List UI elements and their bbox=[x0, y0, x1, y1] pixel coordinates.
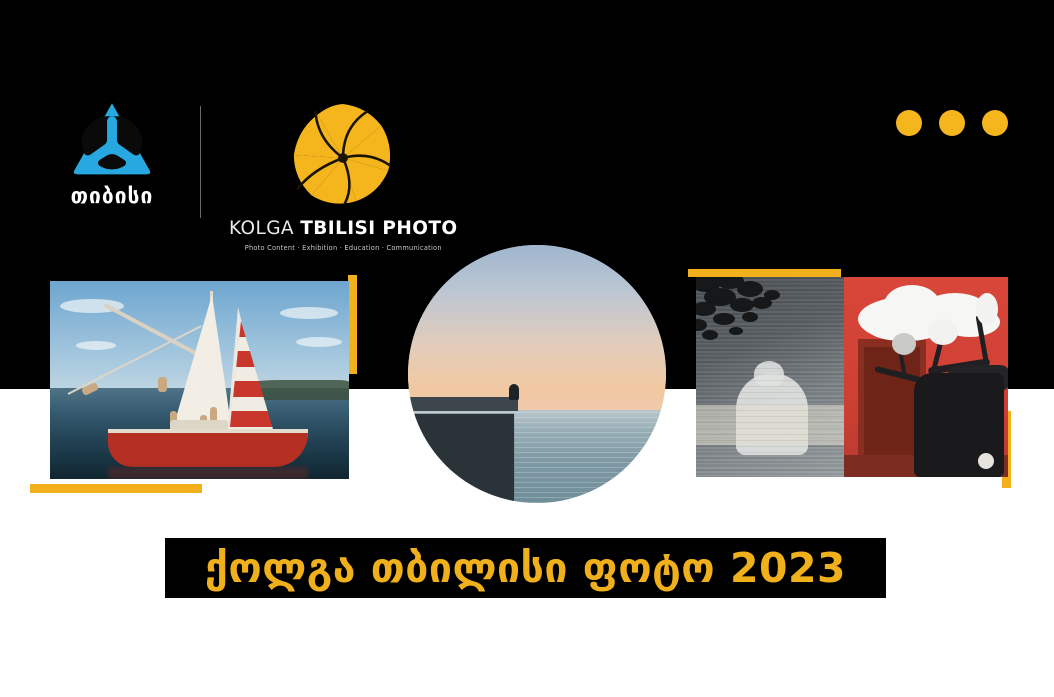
logo-row: თიბისი bbox=[52, 100, 458, 252]
poster-canvas: თიბისი bbox=[0, 0, 1054, 697]
cloud-shape bbox=[280, 307, 338, 319]
scooter-mirror bbox=[928, 319, 958, 345]
accent-bar-left-vertical bbox=[348, 275, 357, 374]
sailboat-hull bbox=[108, 433, 308, 467]
dot-icon-2 bbox=[939, 110, 965, 136]
accent-bar-left-horizontal bbox=[30, 484, 202, 493]
sailboat-photo bbox=[50, 281, 349, 479]
misty-figure-photo bbox=[696, 277, 844, 477]
misty-scanlines bbox=[696, 277, 844, 477]
cloud-shape bbox=[76, 341, 116, 350]
kolga-word-bold: TBILISI PHOTO bbox=[300, 218, 457, 239]
title-banner: ქოლგა თბილისი ფოტო 2023 bbox=[165, 538, 886, 598]
dot-icon-3 bbox=[982, 110, 1008, 136]
kolga-logo[interactable]: KOLGA TBILISI PHOTO Photo Content · Exhi… bbox=[229, 100, 458, 252]
circle-photo-pier-top bbox=[408, 397, 518, 411]
sailboat-reflection bbox=[108, 467, 308, 479]
decorative-dots bbox=[896, 110, 1008, 136]
kolga-word-light: KOLGA bbox=[229, 218, 294, 239]
tbc-logo[interactable]: თიბისი bbox=[52, 100, 172, 207]
right-photo-pair bbox=[696, 277, 1008, 477]
tbc-wordmark: თიბისი bbox=[71, 186, 154, 207]
accent-bar-right-horizontal bbox=[688, 269, 841, 277]
scooter-headlamp bbox=[978, 453, 994, 469]
tbc-triangle-logo-icon bbox=[70, 100, 154, 176]
dot-icon-1 bbox=[896, 110, 922, 136]
scooter-mirror bbox=[892, 333, 916, 355]
cloud-shape bbox=[296, 337, 342, 347]
logo-divider bbox=[200, 106, 201, 218]
scooter-photo bbox=[844, 277, 1008, 477]
circle-pier-photo bbox=[408, 245, 666, 503]
scooter-photo-doorway-inner bbox=[864, 347, 920, 459]
circle-photo-person bbox=[509, 384, 519, 400]
kolga-umbrella-logo-icon bbox=[284, 102, 402, 214]
page-title: ქოლგა თბილისი ფოტო 2023 bbox=[205, 548, 846, 589]
kolga-wordmark: KOLGA TBILISI PHOTO bbox=[229, 220, 458, 239]
scooter-mirror bbox=[976, 293, 998, 325]
circle-photo-sky bbox=[408, 245, 666, 410]
sailboat-person bbox=[158, 377, 167, 392]
